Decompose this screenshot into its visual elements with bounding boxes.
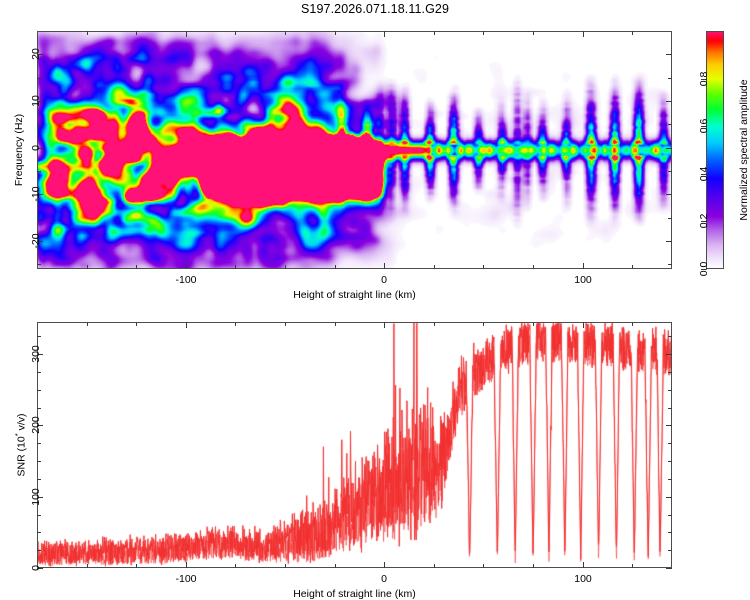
- snr-y-axis-label: SNR (10* v/v): [13, 413, 28, 476]
- snr-y-label-prefix: SNR (10: [16, 436, 28, 476]
- snr-y-tick-label: 300: [30, 345, 42, 363]
- snr-y-tick-label: 100: [30, 488, 42, 506]
- snr-panel: -10001000100200300 SNR (10* v/v) Height …: [0, 0, 750, 600]
- snr-y-label-suffix: v/v): [16, 413, 28, 433]
- snr-x-axis-label: Height of straight line (km): [293, 588, 416, 600]
- snr-x-tick-label: 0: [381, 573, 387, 585]
- snr-x-tick-label: -100: [175, 573, 196, 585]
- snr-y-tick-label: 0: [30, 565, 42, 571]
- snr-tick-labels: -10001000100200300: [0, 0, 750, 600]
- snr-y-tick-label: 200: [30, 416, 42, 434]
- snr-x-tick-label: 100: [574, 573, 592, 585]
- snr-y-label-superscript: *: [13, 433, 22, 436]
- figure-root: S197.2026.071.18.11.G29 -1000100-20-1001…: [0, 0, 750, 600]
